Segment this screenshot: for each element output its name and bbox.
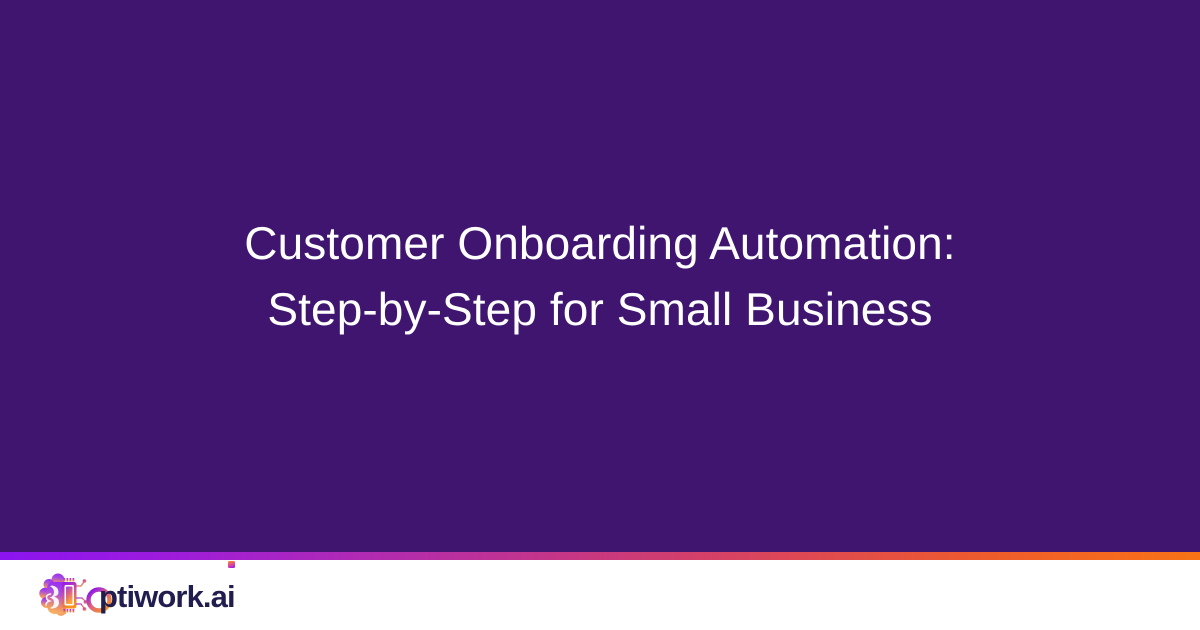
brand-name-rest: ptiwork.a	[99, 581, 227, 612]
microchip	[62, 578, 77, 613]
brand-name-suffix: i	[227, 581, 235, 612]
brand-i-dot-icon	[228, 561, 235, 568]
hero-section: Customer Onboarding Automation: Step-by-…	[0, 0, 1200, 552]
footer: ptiwork.ai	[0, 560, 1200, 630]
brain-shape	[39, 574, 66, 617]
accent-gradient-bar	[0, 552, 1200, 560]
social-card: Customer Onboarding Automation: Step-by-…	[0, 0, 1200, 630]
brand-logo[interactable]: ptiwork.ai	[38, 572, 235, 618]
page-title: Customer Onboarding Automation: Step-by-…	[120, 210, 1080, 342]
brand-wordmark: ptiwork.ai	[99, 581, 235, 612]
brain-microchip-icon	[38, 572, 90, 618]
